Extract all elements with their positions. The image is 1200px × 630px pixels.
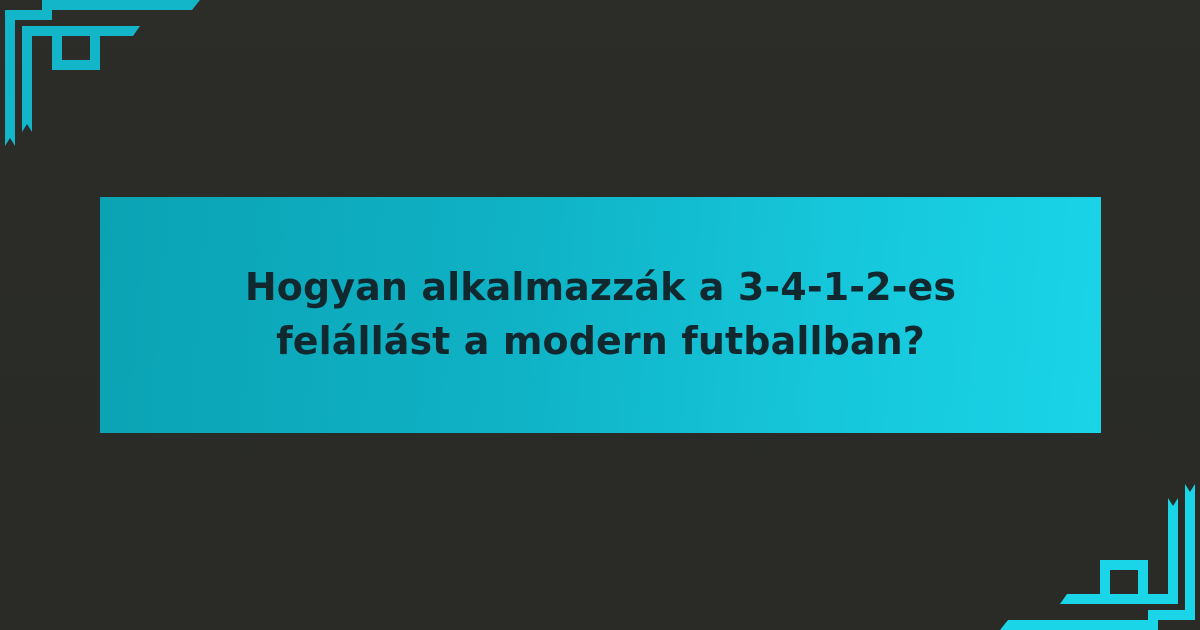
headline-banner: Hogyan alkalmazzák a 3-4-1-2-es felállás… — [100, 197, 1101, 433]
social-share-card: Hogyan alkalmazzák a 3-4-1-2-es felállás… — [0, 0, 1200, 630]
page-title: Hogyan alkalmazzák a 3-4-1-2-es felállás… — [221, 261, 981, 369]
corner-bracket-bottom-right-icon — [990, 470, 1200, 630]
corner-bracket-top-left-icon — [0, 0, 210, 160]
